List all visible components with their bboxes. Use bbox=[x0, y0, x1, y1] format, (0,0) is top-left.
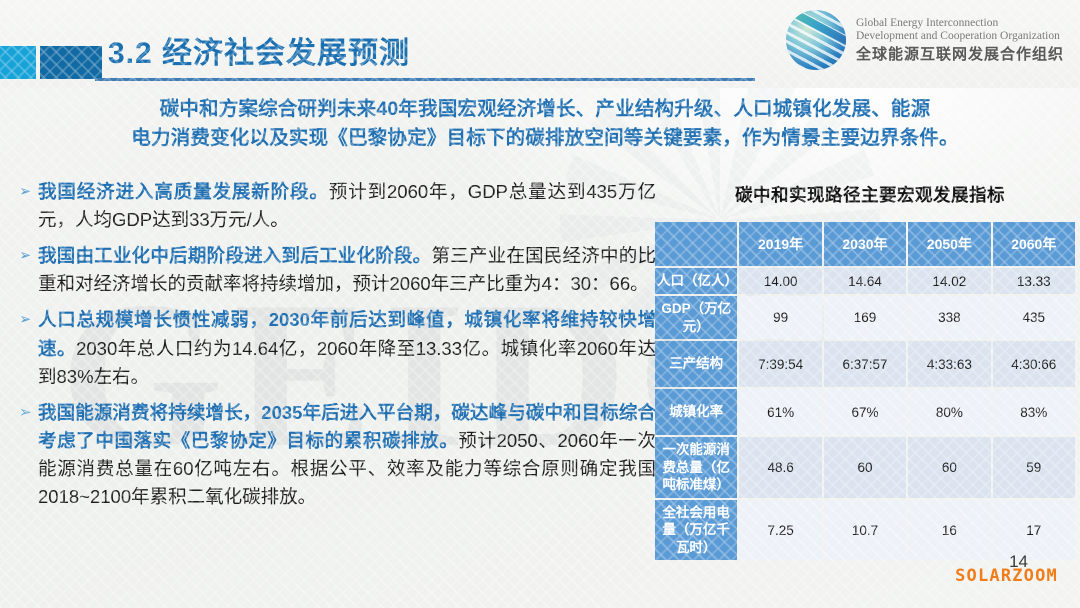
arrow-bullet-icon: ➢ bbox=[16, 178, 38, 206]
row-label: GDP（万亿元） bbox=[655, 296, 737, 339]
table-cell: 60 bbox=[824, 437, 906, 498]
table-cell: 99 bbox=[739, 296, 821, 339]
table-cell: 10.7 bbox=[824, 500, 906, 561]
table-title: 碳中和实现路径主要宏观发展指标 bbox=[660, 182, 1080, 207]
table-header-row: 2019年 2030年 2050年 2060年 bbox=[655, 222, 1075, 266]
globe-icon bbox=[786, 10, 846, 70]
organization-logo: Global Energy Interconnection Developmen… bbox=[786, 10, 1064, 70]
table-cell: 4:33:63 bbox=[908, 341, 990, 387]
table-cell: 60 bbox=[908, 437, 990, 498]
table-cell: 4:30:66 bbox=[993, 341, 1075, 387]
table-cell: 7.25 bbox=[739, 500, 821, 561]
column-header: 2019年 bbox=[739, 222, 821, 266]
table-cell: 7:39:54 bbox=[739, 341, 821, 387]
arrow-bullet-icon: ➢ bbox=[16, 399, 38, 427]
list-item: ➢ 我国能源消费将持续增长，2035年后进入平台期，碳达峰与碳中和目标综合考虑了… bbox=[16, 399, 656, 511]
table-cell: 6:37:57 bbox=[824, 341, 906, 387]
lead-line-2: 电力消费变化以及实现《巴黎协定》目标下的碳排放空间等关键要素，作为情景主要边界条… bbox=[30, 124, 1060, 153]
logo-en-line1: Global Energy Interconnection bbox=[856, 17, 1064, 30]
bullet-list: ➢ 我国经济进入高质量发展新阶段。预计到2060年，GDP总量达到435万亿元，… bbox=[16, 178, 656, 519]
table-row: 三产结构 7:39:54 6:37:57 4:33:63 4:30:66 bbox=[655, 341, 1075, 387]
bullet-body: 我国能源消费将持续增长，2035年后进入平台期，碳达峰与碳中和目标综合考虑了中国… bbox=[38, 399, 656, 511]
arrow-bullet-icon: ➢ bbox=[16, 306, 38, 334]
title-underline bbox=[95, 78, 755, 81]
column-header: 2050年 bbox=[908, 222, 990, 266]
table-row: 一次能源消费总量（亿吨标准煤） 48.6 60 60 59 bbox=[655, 437, 1075, 498]
table-cell: 14.00 bbox=[739, 268, 821, 294]
table-cell: 80% bbox=[908, 389, 990, 435]
lead-paragraph: 碳中和方案综合研判未来40年我国宏观经济增长、产业结构升级、人口城镇化发展、能源… bbox=[30, 95, 1060, 153]
table-cell: 14.02 bbox=[908, 268, 990, 294]
table-cell: 48.6 bbox=[739, 437, 821, 498]
logo-text-block: Global Energy Interconnection Developmen… bbox=[856, 17, 1064, 63]
table-cell: 67% bbox=[824, 389, 906, 435]
macro-indicators-table: 2019年 2030年 2050年 2060年 人口（亿人） 14.00 14.… bbox=[653, 220, 1077, 562]
row-label: 三产结构 bbox=[655, 341, 737, 387]
brand-watermark: SOLARZOOM bbox=[955, 566, 1058, 586]
table-row: GDP（万亿元） 99 169 338 435 bbox=[655, 296, 1075, 339]
table-cell: 14.64 bbox=[824, 268, 906, 294]
row-label: 全社会用电量（万亿千瓦时） bbox=[655, 500, 737, 561]
logo-cn-name: 全球能源互联网发展合作组织 bbox=[856, 46, 1064, 63]
table-cell: 59 bbox=[993, 437, 1075, 498]
list-item: ➢ 人口总规模增长惯性减弱，2030年前后达到峰值，城镇化率将维持较快增速。20… bbox=[16, 306, 656, 390]
table-cell: 435 bbox=[993, 296, 1075, 339]
bullet-highlight: 我国由工业化中后期阶段进入到后工业化阶段。 bbox=[38, 245, 431, 266]
table-cell: 83% bbox=[993, 389, 1075, 435]
logo-en-line2: Development and Cooperation Organization bbox=[856, 30, 1064, 43]
list-item: ➢ 我国由工业化中后期阶段进入到后工业化阶段。第三产业在国民经济中的比重和对经济… bbox=[16, 242, 656, 298]
header-accent-dark bbox=[40, 46, 102, 79]
row-label: 一次能源消费总量（亿吨标准煤） bbox=[655, 437, 737, 498]
arrow-bullet-icon: ➢ bbox=[16, 242, 38, 270]
header-accent-light bbox=[0, 46, 36, 79]
bullet-body: 我国由工业化中后期阶段进入到后工业化阶段。第三产业在国民经济中的比重和对经济增长… bbox=[38, 242, 656, 298]
table-cell: 16 bbox=[908, 500, 990, 561]
lead-line-1: 碳中和方案综合研判未来40年我国宏观经济增长、产业结构升级、人口城镇化发展、能源 bbox=[30, 95, 1060, 124]
bullet-highlight: 我国经济进入高质量发展新阶段。 bbox=[38, 181, 329, 202]
bullet-body: 人口总规模增长惯性减弱，2030年前后达到峰值，城镇化率将维持较快增速。2030… bbox=[38, 306, 656, 390]
page-title: 3.2 经济社会发展预测 bbox=[108, 28, 410, 72]
row-label: 人口（亿人） bbox=[655, 268, 737, 294]
list-item: ➢ 我国经济进入高质量发展新阶段。预计到2060年，GDP总量达到435万亿元，… bbox=[16, 178, 656, 234]
table-cell: 338 bbox=[908, 296, 990, 339]
table-row: 人口（亿人） 14.00 14.64 14.02 13.33 bbox=[655, 268, 1075, 294]
slide-root: GEIDCO 3.2 经济社会发展预测 Global Energy Interc… bbox=[0, 0, 1080, 608]
column-header: 2030年 bbox=[824, 222, 906, 266]
table-row: 城镇化率 61% 67% 80% 83% bbox=[655, 389, 1075, 435]
table-corner-cell bbox=[655, 222, 737, 266]
column-header: 2060年 bbox=[993, 222, 1075, 266]
table-cell: 169 bbox=[824, 296, 906, 339]
bullet-body: 我国经济进入高质量发展新阶段。预计到2060年，GDP总量达到435万亿元，人均… bbox=[38, 178, 656, 234]
bullet-rest: 2030年总人口约为14.64亿，2060年降至13.33亿。城镇化率2060年… bbox=[38, 338, 656, 387]
row-label: 城镇化率 bbox=[655, 389, 737, 435]
table-cell: 61% bbox=[739, 389, 821, 435]
table-cell: 17 bbox=[993, 500, 1075, 561]
page-number: 14 bbox=[1009, 552, 1028, 572]
table-cell: 13.33 bbox=[993, 268, 1075, 294]
